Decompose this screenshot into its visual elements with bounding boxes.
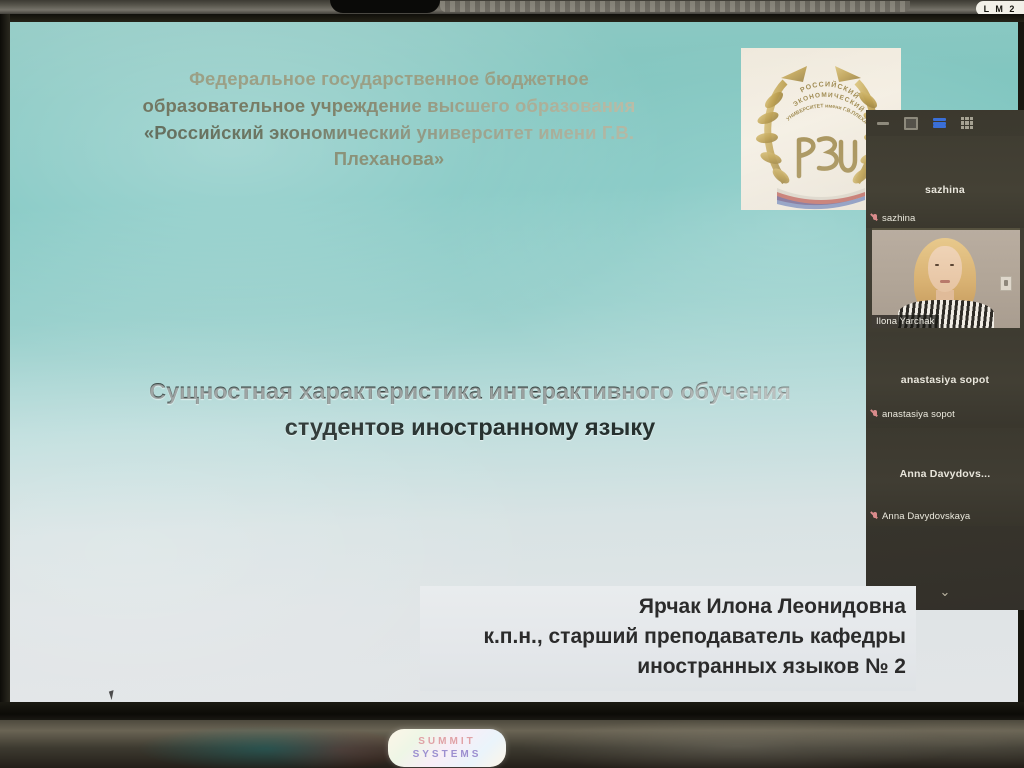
projector-housing [330,0,440,13]
minimize-icon[interactable] [876,118,890,129]
participant-name-label: sazhina [872,213,915,224]
author-position: к.п.н., старший преподаватель кафедры [420,622,906,652]
webcam-eye-left [935,264,939,266]
slide-header: Федеральное государственное бюджетное об… [64,66,714,173]
grid-view-icon[interactable] [960,118,974,129]
header-line-3: «Российский экономический университет им… [64,120,714,147]
header-line-2: образовательное учреждение высшего образ… [64,93,714,120]
participant-tile-anastasiya-sopot[interactable]: anastasiya sopot anastasiya sopot [866,332,1024,424]
slide-author-block: Ярчак Илона Леонидовна к.п.н., старший п… [420,586,916,691]
sticker-line-2: SYSTEMS [413,750,482,760]
wall-outlet [1000,276,1012,291]
sticker-line-1: SUMMIT [418,737,475,747]
participant-label-text: Anna Davydovskaya [882,511,970,522]
ceiling-vent [440,1,910,12]
participant-label-text: sazhina [882,213,915,224]
participant-label-text: anastasiya sopot [882,409,955,420]
author-name: Ярчак Илона Леонидовна [420,592,906,622]
video-layout-toolbar [866,110,1024,136]
video-call-panel: sazhina sazhina Ilona Yarchak anastasiya… [866,110,1024,610]
title-line-2: студентов иностранному языку [70,410,870,446]
vendor-sticker: SUMMIT SYSTEMS [388,729,506,767]
mic-off-icon [872,410,878,419]
desk-reflection [0,720,1024,768]
participant-tile-anna-davydovskaya[interactable]: Anna Davydovs... Anna Davydovskaya [866,428,1024,526]
photographed-screen: L M 2 Федеральное государственное бюджет… [0,0,1024,768]
participant-tile-sazhina[interactable]: sazhina sazhina [866,136,1024,228]
single-view-icon[interactable] [904,118,918,129]
title-line-1: Сущностная характеристика интерактивного… [70,374,870,410]
author-department: иностранных языков № 2 [420,652,906,682]
mic-off-icon [872,512,878,521]
participant-display-name: sazhina [866,184,1024,196]
speaker-view-icon[interactable] [932,118,946,129]
header-line-1: Федеральное государственное бюджетное [64,66,714,93]
webcam-mouth [940,280,950,283]
mic-off-icon [872,214,878,223]
webcam-eye-right [950,264,954,266]
participant-name-label: anastasiya sopot [872,409,955,420]
participant-label-text: Ilona Yarchak [872,315,939,328]
webcam-face [928,246,962,292]
participant-tile-ilona-yarchak[interactable]: Ilona Yarchak [872,228,1020,328]
participant-display-name: Anna Davydovs... [866,468,1024,480]
participant-display-name: anastasiya sopot [866,374,1024,386]
participant-name-label: Anna Davydovskaya [872,511,970,522]
slide-title: Сущностная характеристика интерактивного… [70,374,870,445]
monitor-bezel-top [0,14,1024,22]
monitor-bezel-left [0,14,10,720]
header-line-4: Плеханова» [64,146,714,173]
